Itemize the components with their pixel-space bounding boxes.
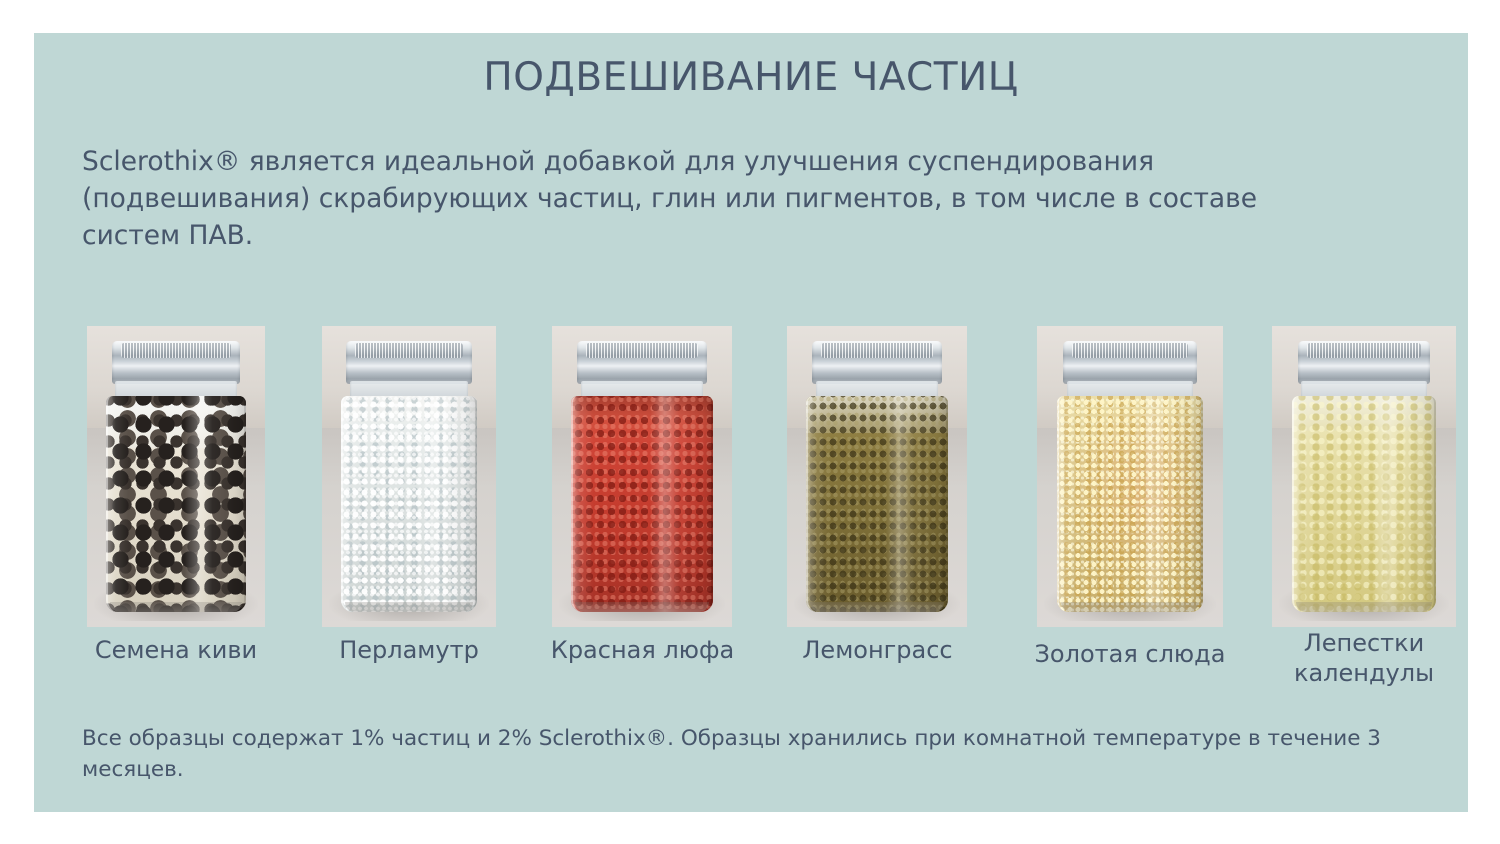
jar-kiwi-seeds — [103, 341, 249, 618]
slide-panel: ПОДВЕШИВАНИЕ ЧАСТИЦ Sclerothix® является… — [34, 33, 1468, 812]
jar-lid-icon — [112, 341, 240, 384]
intro-paragraph: Sclerothix® является идеальной добавкой … — [82, 143, 1420, 254]
intro-line-3: систем ПАВ. — [82, 217, 1420, 254]
sample-card-red-loofah — [552, 326, 732, 627]
sample-caption-red-loofah: Красная люфа — [539, 635, 746, 665]
jar-pearlescent — [338, 341, 481, 618]
intro-line-2: (подвешивания) скрабирующих частиц, глин… — [82, 180, 1420, 217]
sample-card-lemongrass — [787, 326, 967, 627]
sample-card-calendula-petals — [1272, 326, 1456, 627]
jar-lid-icon — [577, 341, 707, 384]
jar-lemongrass — [803, 341, 951, 618]
sample-caption-kiwi-seeds: Семена киви — [75, 635, 277, 665]
sample-caption-lemongrass: Лемонграсс — [774, 635, 981, 665]
sample-photo-lemongrass — [787, 326, 967, 627]
jar-gold-mica — [1054, 341, 1207, 618]
page-title: ПОДВЕШИВАНИЕ ЧАСТИЦ — [34, 55, 1468, 100]
sample-photo-calendula-petals — [1272, 326, 1456, 627]
jar-lid-icon — [1298, 341, 1431, 384]
sample-card-pearlescent — [322, 326, 496, 627]
jar-calendula-petals — [1289, 341, 1440, 618]
jar-lid-icon — [1063, 341, 1197, 384]
sample-card-gold-mica — [1037, 326, 1223, 627]
sample-caption-gold-mica: Золотая слюда — [1022, 639, 1238, 669]
intro-line-1: Sclerothix® является идеальной добавкой … — [82, 143, 1420, 180]
sample-caption-pearlescent: Перламутр — [310, 635, 508, 665]
sample-photo-kiwi-seeds — [87, 326, 265, 627]
sample-photo-gold-mica — [1037, 326, 1223, 627]
sample-gallery: Семена киви Перламутр — [34, 295, 1468, 625]
sample-caption-calendula-petals: Лепестки календулы — [1262, 628, 1466, 688]
jar-lid-icon — [812, 341, 942, 384]
sample-photo-red-loofah — [552, 326, 732, 627]
footnote-text: Все образцы содержат 1% частиц и 2% Scle… — [82, 723, 1422, 785]
jar-lid-icon — [346, 341, 472, 384]
jar-red-loofah — [568, 341, 716, 618]
sample-card-kiwi-seeds — [87, 326, 265, 627]
sample-photo-pearlescent — [322, 326, 496, 627]
